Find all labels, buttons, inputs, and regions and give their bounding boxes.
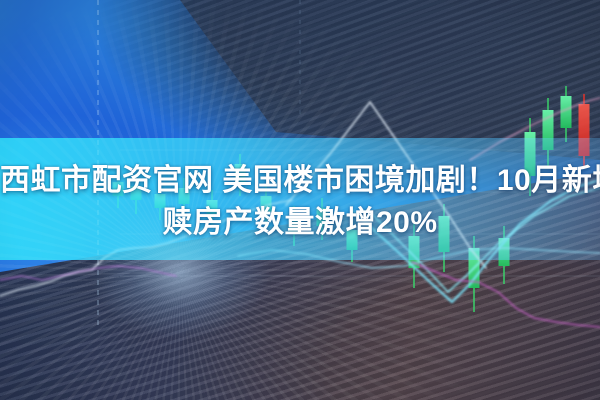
candle-body [469, 248, 480, 288]
trend-line [470, 98, 600, 160]
headline-line-1: 西虹市配资官网 美国楼市困境加剧！10月新增止 [0, 160, 600, 202]
trend-line [238, 248, 600, 268]
headline-line-2: 赎房产数量激增20% [0, 202, 600, 244]
candle-body [543, 110, 554, 150]
trend-line [412, 262, 600, 327]
candle-body [579, 104, 590, 156]
candle-body [561, 96, 572, 128]
headline-text: 西虹市配资官网 美国楼市困境加剧！10月新增止 赎房产数量激增20% [0, 160, 600, 244]
trend-line [0, 266, 176, 280]
news-banner-image: 西虹市配资官网 美国楼市困境加剧！10月新增止 赎房产数量激增20% [0, 0, 600, 400]
